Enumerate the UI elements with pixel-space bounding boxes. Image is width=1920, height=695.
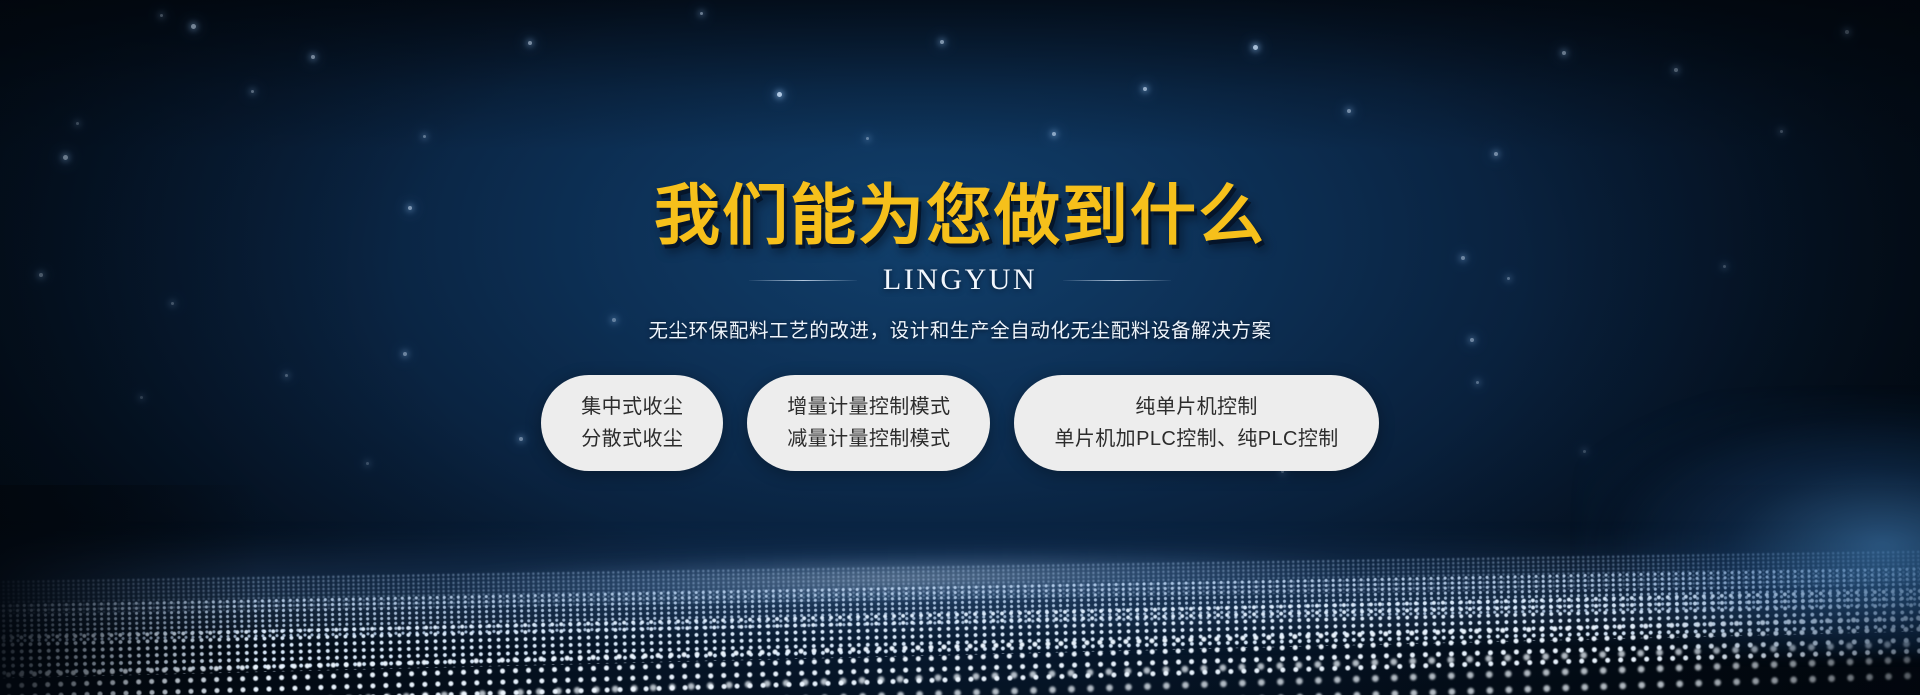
- divider-line-left: [749, 280, 857, 281]
- page-title: 我们能为您做到什么: [654, 183, 1266, 249]
- pill-line: 减量计量控制模式: [787, 428, 950, 451]
- hero-content: 我们能为您做到什么 LINGYUN 无尘环保配料工艺的改进，设计和生产全自动化无…: [0, 0, 1920, 695]
- divider-line-right: [1063, 280, 1171, 281]
- feature-pill-dust-collection[interactable]: 集中式收尘 分散式收尘: [541, 375, 723, 471]
- brand-name: LINGYUN: [883, 263, 1037, 297]
- pill-line: 集中式收尘: [581, 396, 683, 419]
- hero-banner: 我们能为您做到什么 LINGYUN 无尘环保配料工艺的改进，设计和生产全自动化无…: [0, 0, 1920, 695]
- pill-line: 分散式收尘: [581, 428, 683, 451]
- brand-row: LINGYUN: [749, 263, 1171, 297]
- feature-pill-group: 集中式收尘 分散式收尘 增量计量控制模式 减量计量控制模式 纯单片机控制 单片机…: [541, 375, 1378, 471]
- feature-pill-control-system[interactable]: 纯单片机控制 单片机加PLC控制、纯PLC控制: [1014, 375, 1378, 471]
- pill-line: 增量计量控制模式: [787, 396, 950, 419]
- tagline: 无尘环保配料工艺的改进，设计和生产全自动化无尘配料设备解决方案: [648, 314, 1271, 343]
- pill-line: 纯单片机控制: [1135, 396, 1257, 419]
- pill-line: 单片机加PLC控制、纯PLC控制: [1054, 428, 1338, 451]
- feature-pill-weighing-mode[interactable]: 增量计量控制模式 减量计量控制模式: [747, 375, 990, 471]
